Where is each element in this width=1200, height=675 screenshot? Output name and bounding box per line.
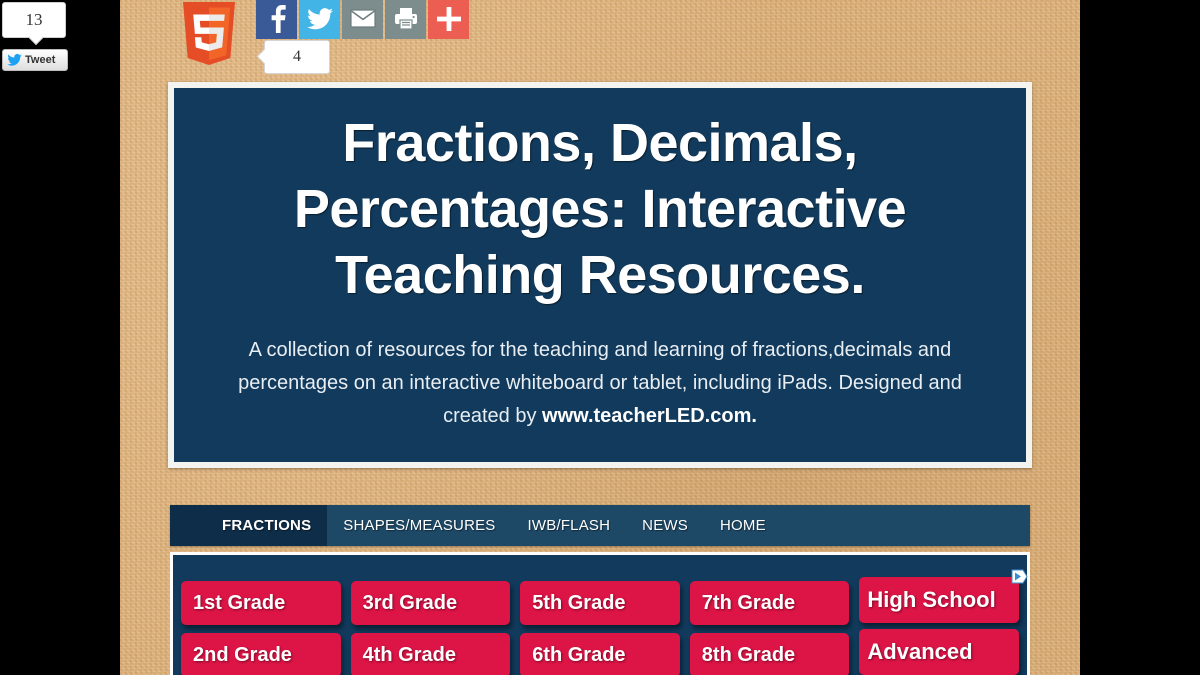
tweet-button[interactable]: Tweet [2, 49, 68, 71]
share-more-button[interactable] [428, 0, 469, 39]
grade-button-label: Advanced [867, 639, 972, 665]
grade-button-label: 6th Grade [532, 644, 625, 667]
grade-button-7th[interactable]: 7th Grade [690, 581, 850, 625]
teacherled-link[interactable]: www.teacherLED.com. [542, 405, 757, 427]
grade-button-4th[interactable]: 4th Grade [351, 633, 511, 675]
nav-item-label: SHAPES/MEASURES [343, 517, 495, 534]
main-navigation[interactable]: FRACTIONS SHAPES/MEASURES IWB/FLASH NEWS… [170, 505, 1030, 546]
nav-item-label: FRACTIONS [222, 517, 311, 534]
grade-button-advanced[interactable]: Advanced [859, 629, 1019, 675]
grade-button-label: 1st Grade [193, 592, 285, 615]
tweet-widget[interactable]: 13 Tweet [2, 2, 70, 71]
grade-button-6th[interactable]: 6th Grade [520, 633, 680, 675]
grade-button-1st[interactable]: 1st Grade [181, 581, 341, 625]
grade-button-label: 8th Grade [702, 644, 795, 667]
grade-button-3rd[interactable]: 3rd Grade [351, 581, 511, 625]
printer-icon [394, 7, 418, 30]
page-description: A collection of resources for the teachi… [235, 334, 965, 433]
grade-button-label: High School [867, 587, 995, 613]
adchoices-icon[interactable] [1011, 577, 1019, 584]
tweet-count-bubble: 13 [2, 2, 66, 38]
page-title: Fractions, Decimals, Percentages: Intera… [210, 110, 990, 308]
share-count-bubble: 4 [264, 40, 330, 74]
tweet-count-value: 13 [26, 10, 43, 30]
nav-item-fractions[interactable]: FRACTIONS [170, 505, 327, 546]
share-twitter-button[interactable] [299, 0, 340, 39]
hero-banner: Fractions, Decimals, Percentages: Intera… [174, 88, 1026, 462]
hero-banner-frame: Fractions, Decimals, Percentages: Intera… [168, 82, 1032, 468]
twitter-icon [307, 8, 333, 30]
grade-button-2nd[interactable]: 2nd Grade [181, 633, 341, 675]
plus-icon [437, 7, 461, 31]
grade-links-panel: 1st Grade 3rd Grade 5th Grade 7th Grade … [170, 552, 1030, 675]
grade-button-label: 3rd Grade [363, 592, 457, 615]
nav-item-label: NEWS [642, 517, 688, 534]
grade-button-8th[interactable]: 8th Grade [690, 633, 850, 675]
share-email-button[interactable] [342, 0, 383, 39]
nav-item-shapes-measures[interactable]: SHAPES/MEASURES [327, 505, 511, 546]
nav-item-iwb-flash[interactable]: IWB/FLASH [512, 505, 627, 546]
grade-button-label: 5th Grade [532, 592, 625, 615]
share-facebook-button[interactable] [256, 0, 297, 39]
grade-button-label: 4th Grade [363, 644, 456, 667]
share-print-button[interactable] [385, 0, 426, 39]
nav-item-label: IWB/FLASH [528, 517, 611, 534]
nav-item-label: HOME [720, 517, 766, 534]
grade-button-grid: 1st Grade 3rd Grade 5th Grade 7th Grade … [181, 581, 1019, 675]
grade-button-label: 7th Grade [702, 592, 795, 615]
twitter-bird-icon [7, 54, 22, 66]
grade-button-label: 2nd Grade [193, 644, 292, 667]
nav-item-news[interactable]: NEWS [626, 505, 704, 546]
social-share-row[interactable] [256, 0, 469, 39]
facebook-icon [265, 5, 289, 33]
share-count-value: 4 [293, 48, 301, 66]
html5-logo: HTML [178, 0, 240, 77]
page-root: 13 Tweet HTML [0, 0, 1200, 675]
tweet-button-label: Tweet [25, 54, 55, 66]
html5-shield-icon [178, 2, 240, 72]
envelope-icon [350, 9, 376, 28]
grade-button-high-school[interactable]: High School [859, 577, 1019, 623]
grade-button-5th[interactable]: 5th Grade [520, 581, 680, 625]
nav-item-home[interactable]: HOME [704, 505, 782, 546]
